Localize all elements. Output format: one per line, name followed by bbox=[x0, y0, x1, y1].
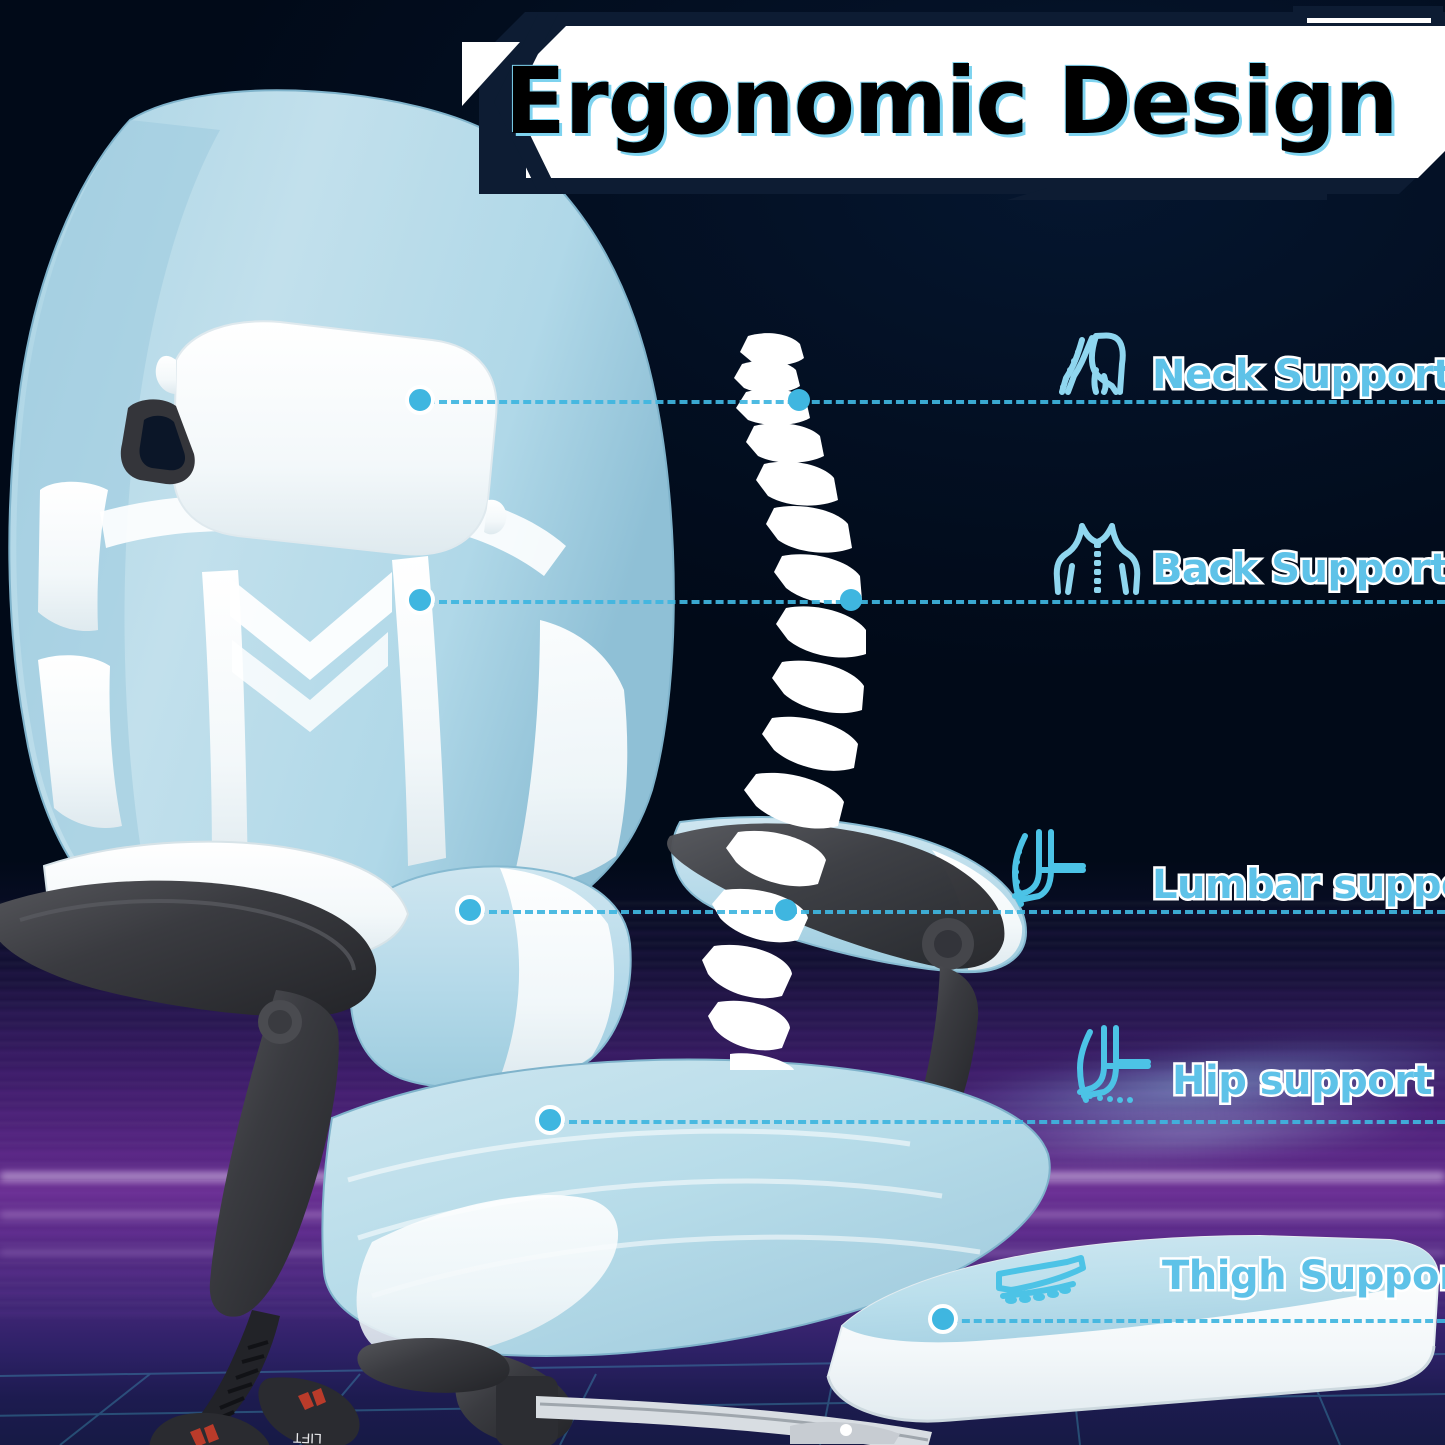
callout-dot-hip[interactable] bbox=[535, 1105, 565, 1135]
person-back-spine-icon bbox=[1052, 520, 1142, 596]
callout-label-thigh: Thigh Support bbox=[1162, 1253, 1445, 1299]
callout-label-hip: Hip support bbox=[1172, 1058, 1432, 1104]
callout-dot-thigh[interactable] bbox=[928, 1304, 958, 1334]
callout-dashed-line-hip bbox=[557, 1120, 1445, 1124]
callout-label-back: Back Support bbox=[1152, 546, 1445, 592]
person-seated-lumbar-icon bbox=[995, 826, 1091, 910]
page-title: Ergonomic Design bbox=[447, 4, 1430, 200]
title-banner: Ergonomic Design bbox=[432, 4, 1445, 200]
spine-dot-lumbar bbox=[775, 899, 797, 921]
person-neck-bend-icon bbox=[1052, 330, 1138, 402]
callout-dashed-line-neck bbox=[427, 400, 1445, 404]
callout-dashed-line-lumbar bbox=[477, 910, 1445, 914]
human-spine-illustration bbox=[690, 330, 930, 1070]
spine-dot-neck bbox=[788, 389, 810, 411]
spine-dot-back bbox=[840, 589, 862, 611]
infographic-canvas: LIFT TILT bbox=[0, 0, 1445, 1445]
callout-dashed-line-back bbox=[427, 600, 1445, 604]
callout-dot-back[interactable] bbox=[405, 585, 435, 615]
leg-recline-icon bbox=[985, 1248, 1093, 1320]
callout-dot-neck[interactable] bbox=[405, 385, 435, 415]
callout-label-neck: Neck Support bbox=[1152, 352, 1445, 398]
svg-text:LIFT: LIFT bbox=[292, 1430, 322, 1445]
callout-dot-lumbar[interactable] bbox=[455, 895, 485, 925]
person-seated-hip-icon bbox=[1060, 1022, 1156, 1106]
callout-label-lumbar: Lumbar support bbox=[1152, 862, 1445, 908]
